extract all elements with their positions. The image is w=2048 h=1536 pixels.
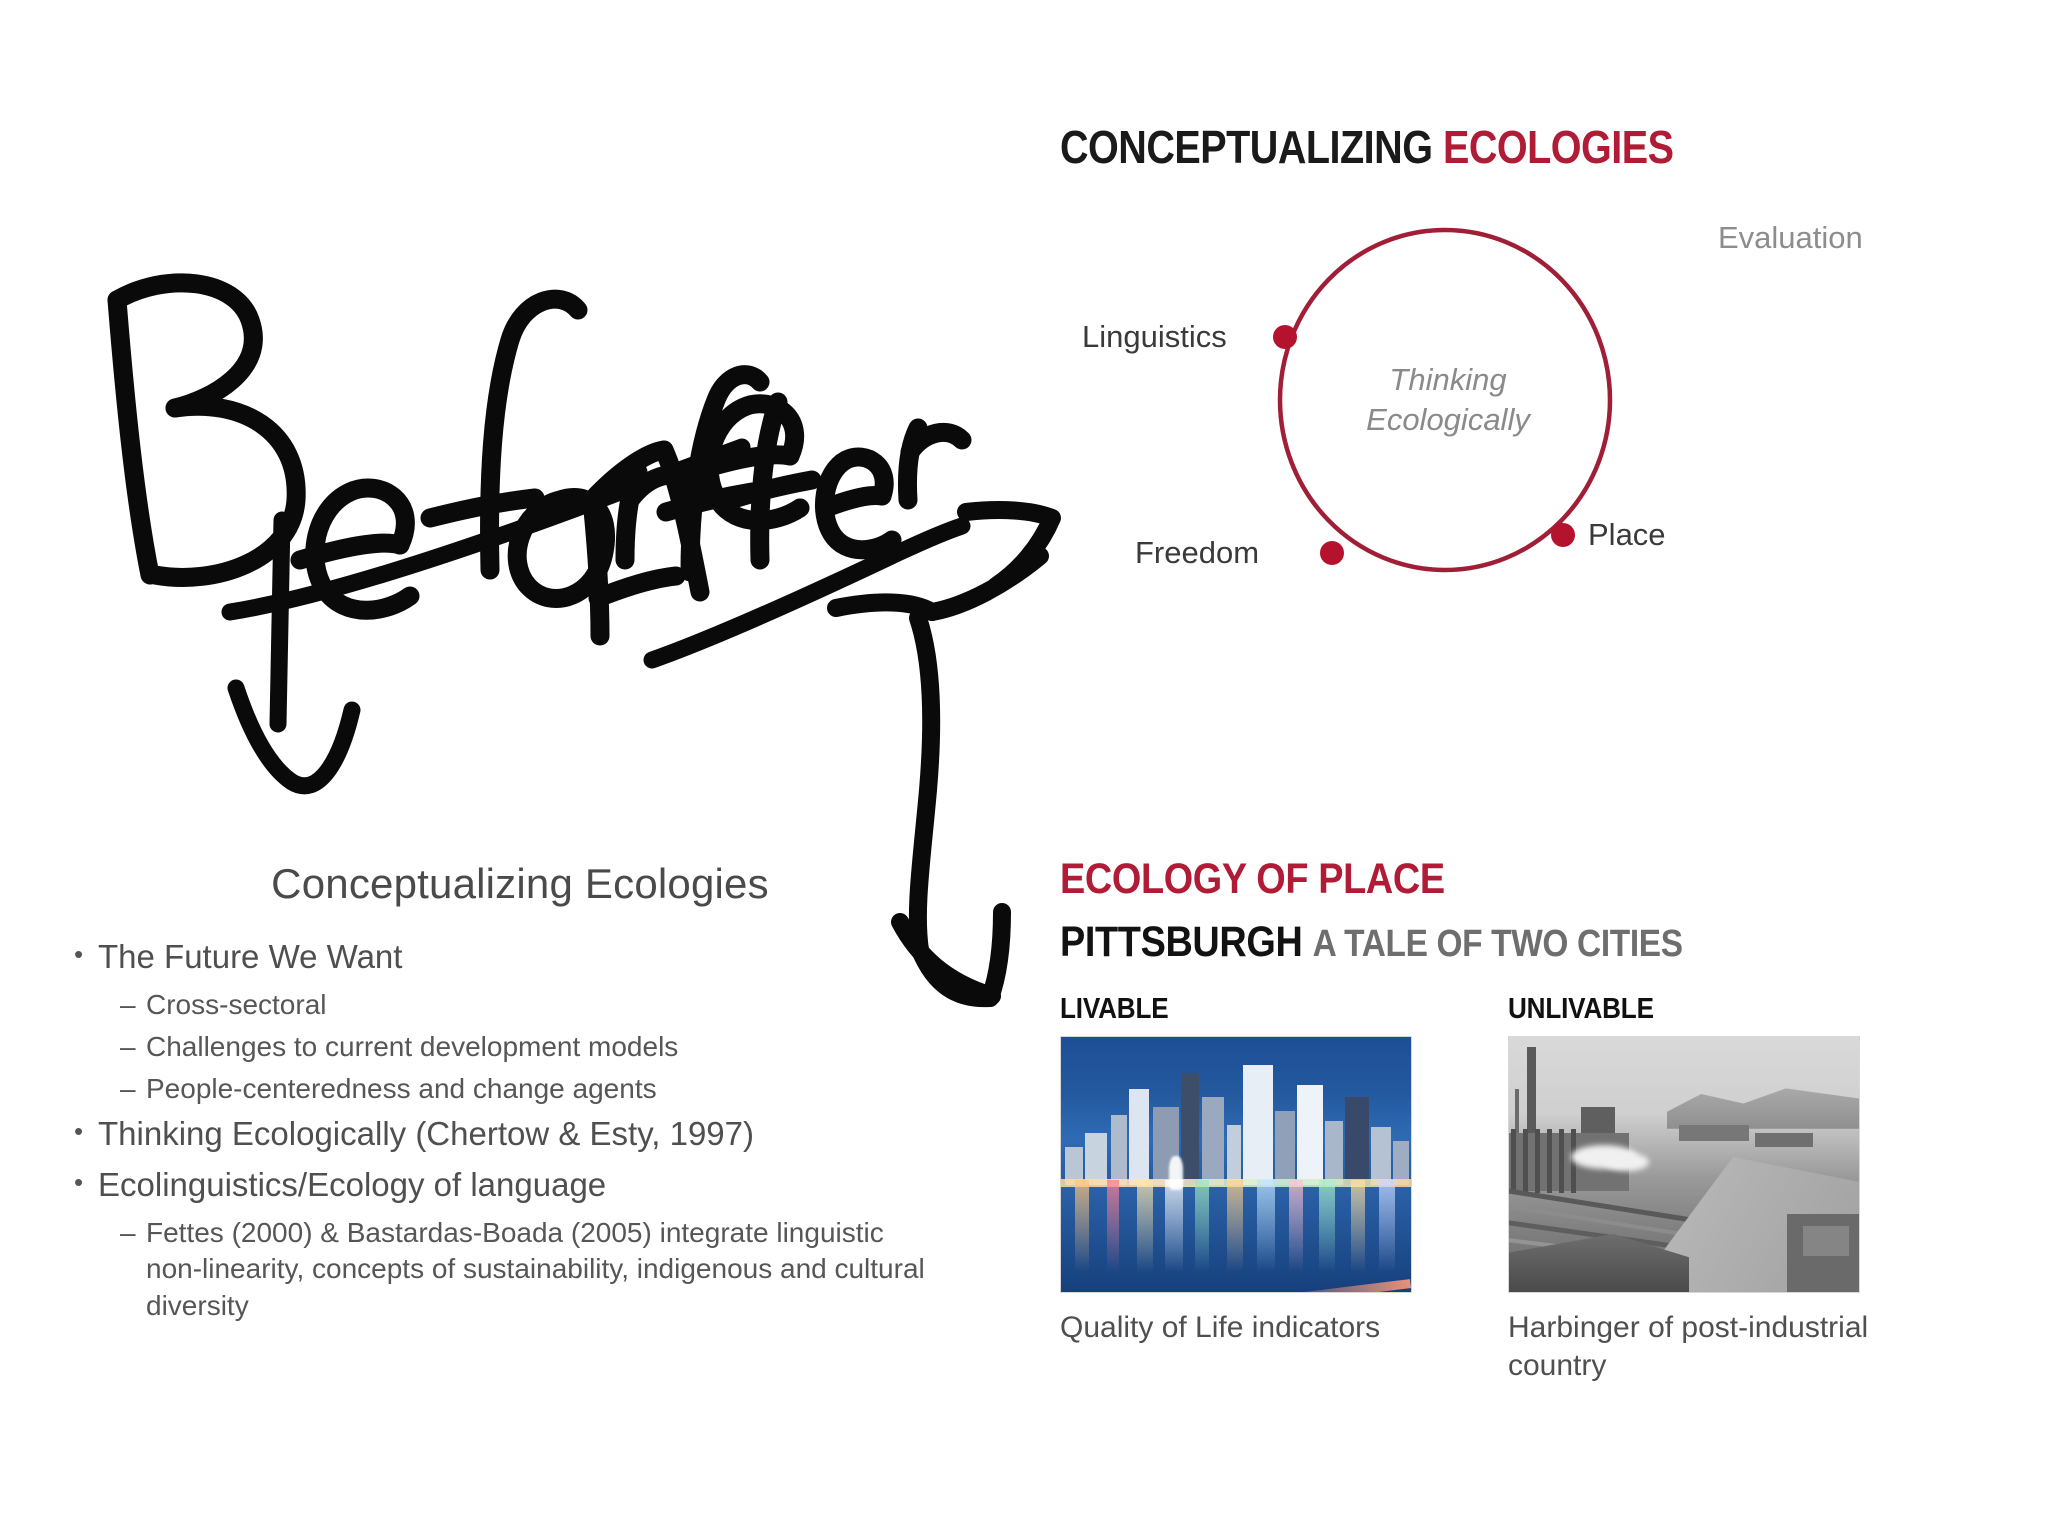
bullet-marker: • (74, 936, 98, 974)
before-slide-title: Conceptualizing Ecologies (60, 860, 980, 908)
bullet-text: Challenges to current development models (146, 1029, 678, 1066)
two-cities-columns: LIVABLE (1060, 993, 2048, 1385)
ink-arrowhead-down-b (990, 912, 1002, 998)
center-line-1: Thinking (1328, 360, 1568, 400)
conceptualizing-ecologies-title: CONCEPTUALIZING ECOLOGIES (1060, 120, 1886, 174)
ink-after-A-left (592, 500, 600, 636)
ink-before-e2 (709, 404, 800, 521)
node-dot-linguistics (1273, 325, 1297, 349)
before-bullet-list: • The Future We Want – Cross-sectoral – … (60, 936, 980, 1325)
ink-after-e (824, 457, 892, 550)
column-unlivable: UNLIVABLE (1508, 993, 1898, 1385)
ink-after-r (910, 432, 962, 452)
ink-before-underline (230, 447, 742, 612)
bullet-text: Thinking Ecologically (Chertow & Esty, 1… (98, 1113, 754, 1156)
bullet-text: People-centeredness and change agents (146, 1071, 657, 1108)
before-slide: Conceptualizing Ecologies • The Future W… (60, 860, 980, 1330)
bullet-level1: • Ecolinguistics/Ecology of language (60, 1164, 980, 1207)
ink-after-f1 (690, 375, 760, 572)
after-bottom-slide: ECOLOGY OF PLACE PITTSBURGH A TALE OF TW… (1060, 855, 2048, 1385)
slide-comparison-canvas: Conceptualizing Ecologies • The Future W… (0, 0, 2048, 1536)
bullet-text: The Future We Want (98, 936, 402, 979)
bullet-marker: – (120, 1029, 146, 1066)
column-tag-livable: LIVABLE (1060, 993, 1411, 1026)
bullet-marker: • (74, 1164, 98, 1202)
caption-livable: Quality of Life indicators (1060, 1309, 1450, 1347)
node-dot-place (1551, 523, 1575, 547)
title-word-black: CONCEPTUALIZING (1060, 121, 1432, 173)
bullet-level2: – Challenges to current development mode… (60, 1029, 980, 1066)
ink-after-t-stem (760, 402, 778, 560)
ink-before-f-stem (490, 299, 578, 570)
pittsburgh-night-skyline-photo (1060, 1036, 1412, 1293)
column-tag-unlivable: UNLIVABLE (1508, 993, 1859, 1026)
ink-after-A-bar (598, 576, 676, 598)
ink-before-r (630, 475, 690, 500)
ink-before-o (517, 497, 605, 598)
node-label-freedom: Freedom (1135, 535, 1259, 571)
ink-before-B-stem (117, 300, 150, 575)
bullet-marker: • (74, 1113, 98, 1151)
bullet-marker: – (120, 1215, 146, 1252)
ink-down-arrow-head (236, 688, 352, 786)
node-label-linguistics: Linguistics (1082, 319, 1227, 355)
bullet-level1: • The Future We Want (60, 936, 980, 979)
ink-down-arrow-stem (278, 520, 282, 724)
headline-subtitle: A TALE OF TWO CITIES (1313, 923, 1683, 965)
ink-arrowhead-upright (966, 510, 1052, 586)
thinking-ecologically-diagram: Evaluation Linguistics Freedom Place Thi… (1060, 195, 2020, 615)
pittsburgh-headline: PITTSBURGH A TALE OF TWO CITIES (1060, 918, 1931, 967)
ecology-of-place-eyebrow: ECOLOGY OF PLACE (1060, 855, 1931, 904)
bullet-level2: – Cross-sectoral (60, 987, 980, 1024)
column-livable: LIVABLE (1060, 993, 1450, 1385)
ink-after-f1-cross (666, 492, 752, 512)
ink-after-underline (652, 526, 962, 660)
industrial-mill-bw-photo (1508, 1036, 1860, 1293)
caption-unlivable: Harbinger of post-industrial country (1508, 1309, 1898, 1385)
ink-after-A-right (664, 450, 700, 592)
bullet-text: Ecolinguistics/Ecology of language (98, 1164, 606, 1207)
title-word-red: ECOLOGIES (1443, 121, 1674, 173)
bullet-level1: • Thinking Ecologically (Chertow & Esty,… (60, 1113, 980, 1156)
headline-city: PITTSBURGH (1060, 918, 1302, 966)
circle-center-text: Thinking Ecologically (1328, 360, 1568, 441)
bullet-level2: – Fettes (2000) & Bastardas-Boada (2005)… (60, 1215, 980, 1326)
bullet-marker: – (120, 1071, 146, 1108)
bullet-text: Fettes (2000) & Bastardas-Boada (2005) i… (146, 1215, 936, 1326)
ink-before-B-lower (155, 406, 296, 577)
node-label-place: Place (1588, 517, 1666, 553)
ink-fork-joint (836, 602, 932, 612)
ink-branch-up (932, 556, 1040, 612)
node-dot-freedom (1320, 541, 1344, 565)
ink-before-B-upper (117, 283, 253, 408)
bullet-text: Cross-sectoral (146, 987, 326, 1024)
after-top-slide: CONCEPTUALIZING ECOLOGIES (1060, 120, 2020, 174)
center-line-2: Ecologically (1328, 400, 1568, 440)
ink-after-t-cross (730, 480, 812, 500)
bullet-level2: – People-centeredness and change agents (60, 1071, 980, 1108)
node-label-evaluation: Evaluation (1718, 220, 1863, 256)
ink-before-f-cross (430, 498, 535, 518)
bullet-marker: – (120, 987, 146, 1024)
ink-before-e1 (315, 488, 410, 610)
